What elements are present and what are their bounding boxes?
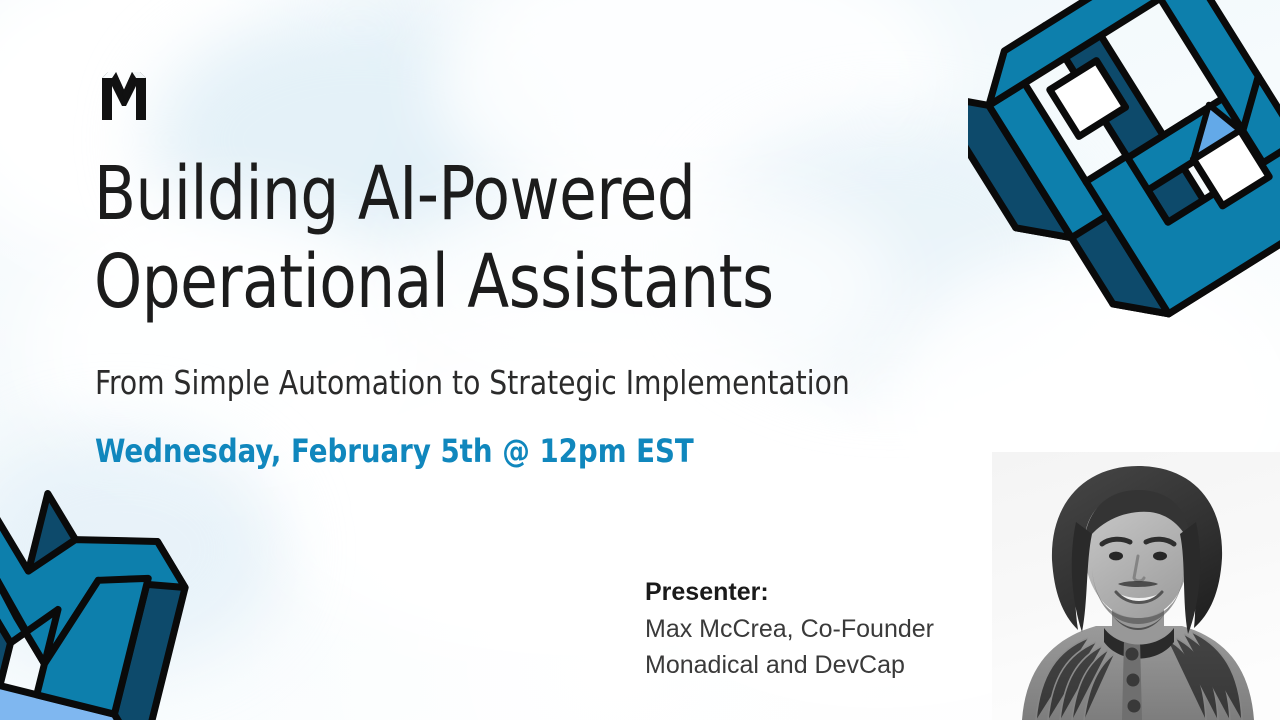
- event-date-text: Wednesday, February 5th @ 12pm EST: [95, 430, 694, 472]
- title-line-2: Operational Assistants: [94, 238, 885, 326]
- webinar-title-slide: Building AI-Powered Operational Assistan…: [0, 0, 1280, 720]
- monadical-m-logo-icon: [96, 68, 152, 126]
- page-title: Building AI-Powered Operational Assistan…: [94, 150, 954, 326]
- presenter-block: Presenter: Max McCrea, Co-Founder Monadi…: [645, 574, 1005, 683]
- title-line-1: Building AI-Powered: [94, 150, 885, 238]
- presenter-headshot-photo: [992, 452, 1280, 720]
- presenter-company: Monadical and DevCap: [645, 647, 1005, 683]
- presenter-name-role: Max McCrea, Co-Founder: [645, 611, 1005, 647]
- page-subtitle: From Simple Automation to Strategic Impl…: [95, 362, 850, 404]
- presenter-label: Presenter:: [645, 574, 1005, 611]
